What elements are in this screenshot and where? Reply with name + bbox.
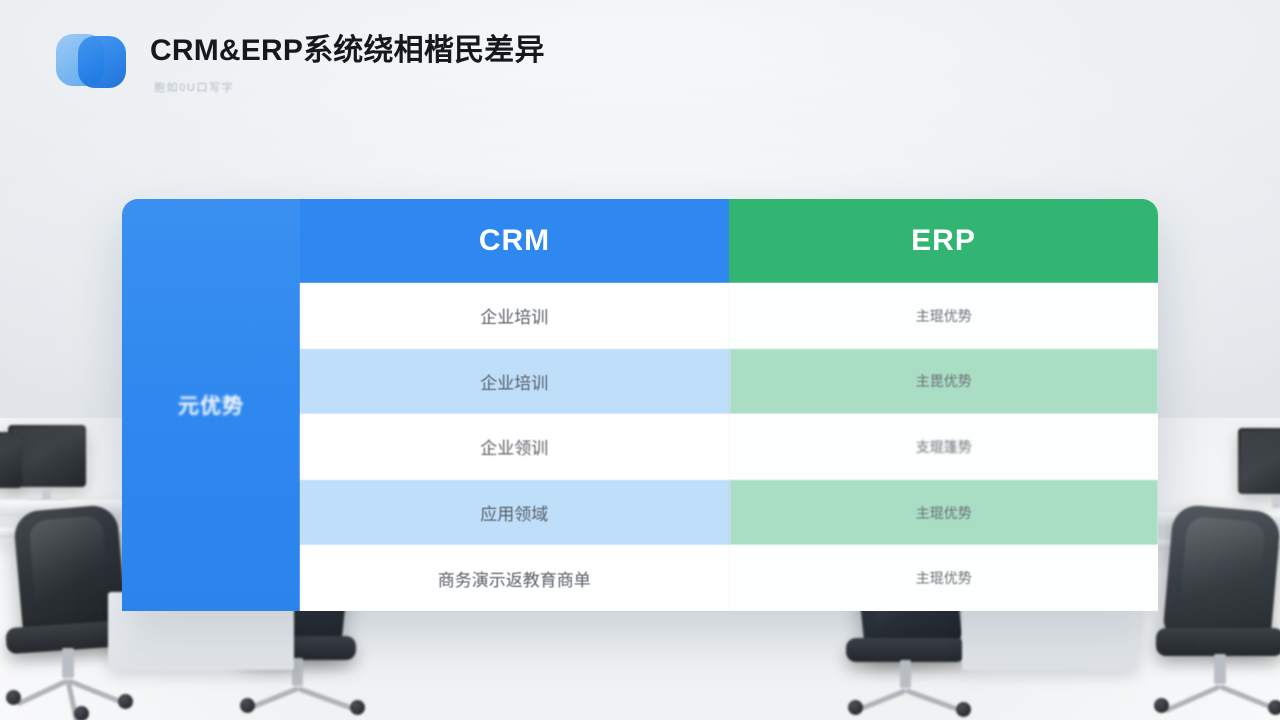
monitor-icon	[1238, 428, 1280, 494]
table-row: 企业领训 支琨篷势	[300, 414, 1158, 480]
table-row: 商务演示返教育商单 主琨优势	[300, 545, 1158, 611]
column-header-erp: ERP	[729, 199, 1158, 283]
cell-erp: 主毘优势	[730, 349, 1159, 415]
table-body: 企业培训 主琨优势 企业培训 主毘优势 企业领训 支琨篷势 应用领域 主琨优势 …	[300, 283, 1158, 611]
cell-erp: 主琨优势	[730, 545, 1159, 611]
cell-crm: 企业培训	[300, 349, 730, 415]
table-label-text: 元优势	[178, 390, 244, 420]
cell-erp: 支琨篷势	[730, 414, 1159, 480]
logo-square-front	[78, 36, 126, 88]
table-row: 企业培训 主毘优势	[300, 349, 1158, 415]
cell-crm: 企业领训	[300, 414, 730, 480]
slide-canvas: CRM&ERP系统绕相楷民差异 胞如0U口写字 元优势 CRM ERP 企业培训…	[0, 0, 1280, 720]
cell-erp: 主琨优势	[730, 283, 1159, 349]
page-subtitle: 胞如0U口写字	[154, 79, 545, 95]
table-row: 企业培训 主琨优势	[300, 283, 1158, 349]
cell-crm: 商务演示返教育商单	[300, 545, 730, 611]
overlapping-squares-logo	[56, 32, 128, 92]
slide-header: CRM&ERP系统绕相楷民差异 胞如0U口写字	[56, 30, 545, 95]
cell-crm: 应用领域	[300, 480, 730, 546]
table-body-columns: CRM ERP 企业培训 主琨优势 企业培训 主毘优势 企业领训 支琨篷势	[300, 199, 1158, 611]
cell-erp: 主琨优势	[730, 480, 1159, 546]
monitor-icon	[0, 432, 22, 488]
table-label-column: 元优势	[122, 199, 300, 611]
cell-crm: 企业培训	[300, 283, 730, 349]
page-title: CRM&ERP系统绕相楷民差异	[150, 34, 545, 67]
column-header-crm: CRM	[300, 199, 729, 283]
table-row: 应用领域 主琨优势	[300, 480, 1158, 546]
comparison-table-card: 元优势 CRM ERP 企业培训 主琨优势 企业培训 主毘优势 企业领训	[122, 199, 1158, 611]
table-header-row: CRM ERP	[300, 199, 1158, 283]
